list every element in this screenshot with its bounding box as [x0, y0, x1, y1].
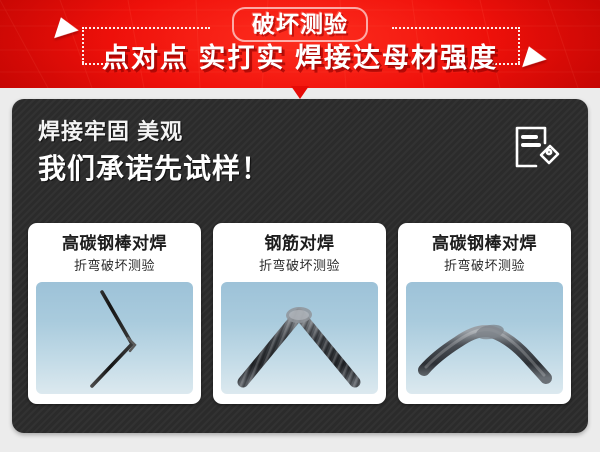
triangle-down-icon: [291, 86, 309, 99]
banner-title: 破坏测验: [232, 7, 368, 42]
banner-title-container: 破坏测验: [0, 7, 600, 42]
test-card[interactable]: 高碳钢棒对焊 折弯破坏测验: [28, 223, 201, 404]
card-photo-bent-high-carbon-steel-rod: [36, 282, 193, 394]
card-photo-bent-thick-steel-bar: [406, 282, 563, 394]
card-title: 高碳钢棒对焊: [36, 233, 193, 255]
test-card-list: 高碳钢棒对焊 折弯破坏测验: [28, 223, 572, 404]
card-title: 高碳钢棒对焊: [406, 233, 563, 255]
card-subtitle: 折弯破坏测验: [36, 256, 193, 275]
promo-banner: 破坏测验 点对点 实打实 焊接达母材强度: [0, 0, 600, 88]
panel-heading-line1: 焊接牢固 美观: [38, 117, 478, 147]
card-photo-v-bent-rebar: [221, 282, 378, 394]
panel-heading-group: 焊接牢固 美观 我们承诺先试样！: [38, 117, 478, 187]
card-subtitle: 折弯破坏测验: [406, 256, 563, 275]
test-card[interactable]: 高碳钢棒对焊 折弯破坏测验: [398, 223, 571, 404]
test-card[interactable]: 钢筋对焊 折弯破坏测验: [213, 223, 386, 404]
card-title: 钢筋对焊: [221, 233, 378, 255]
panel-heading-line2: 我们承诺先试样！: [38, 151, 478, 187]
page-root: 破坏测验 点对点 实打实 焊接达母材强度 焊接牢固 美观 我们承诺先试样！ 高碳…: [0, 0, 600, 452]
document-tag-icon: [514, 125, 560, 173]
dark-content-panel: 焊接牢固 美观 我们承诺先试样！ 高碳钢棒对焊 折弯破坏测验: [12, 99, 588, 433]
card-subtitle: 折弯破坏测验: [221, 256, 378, 275]
banner-subtitle: 点对点 实打实 焊接达母材强度: [0, 42, 600, 74]
